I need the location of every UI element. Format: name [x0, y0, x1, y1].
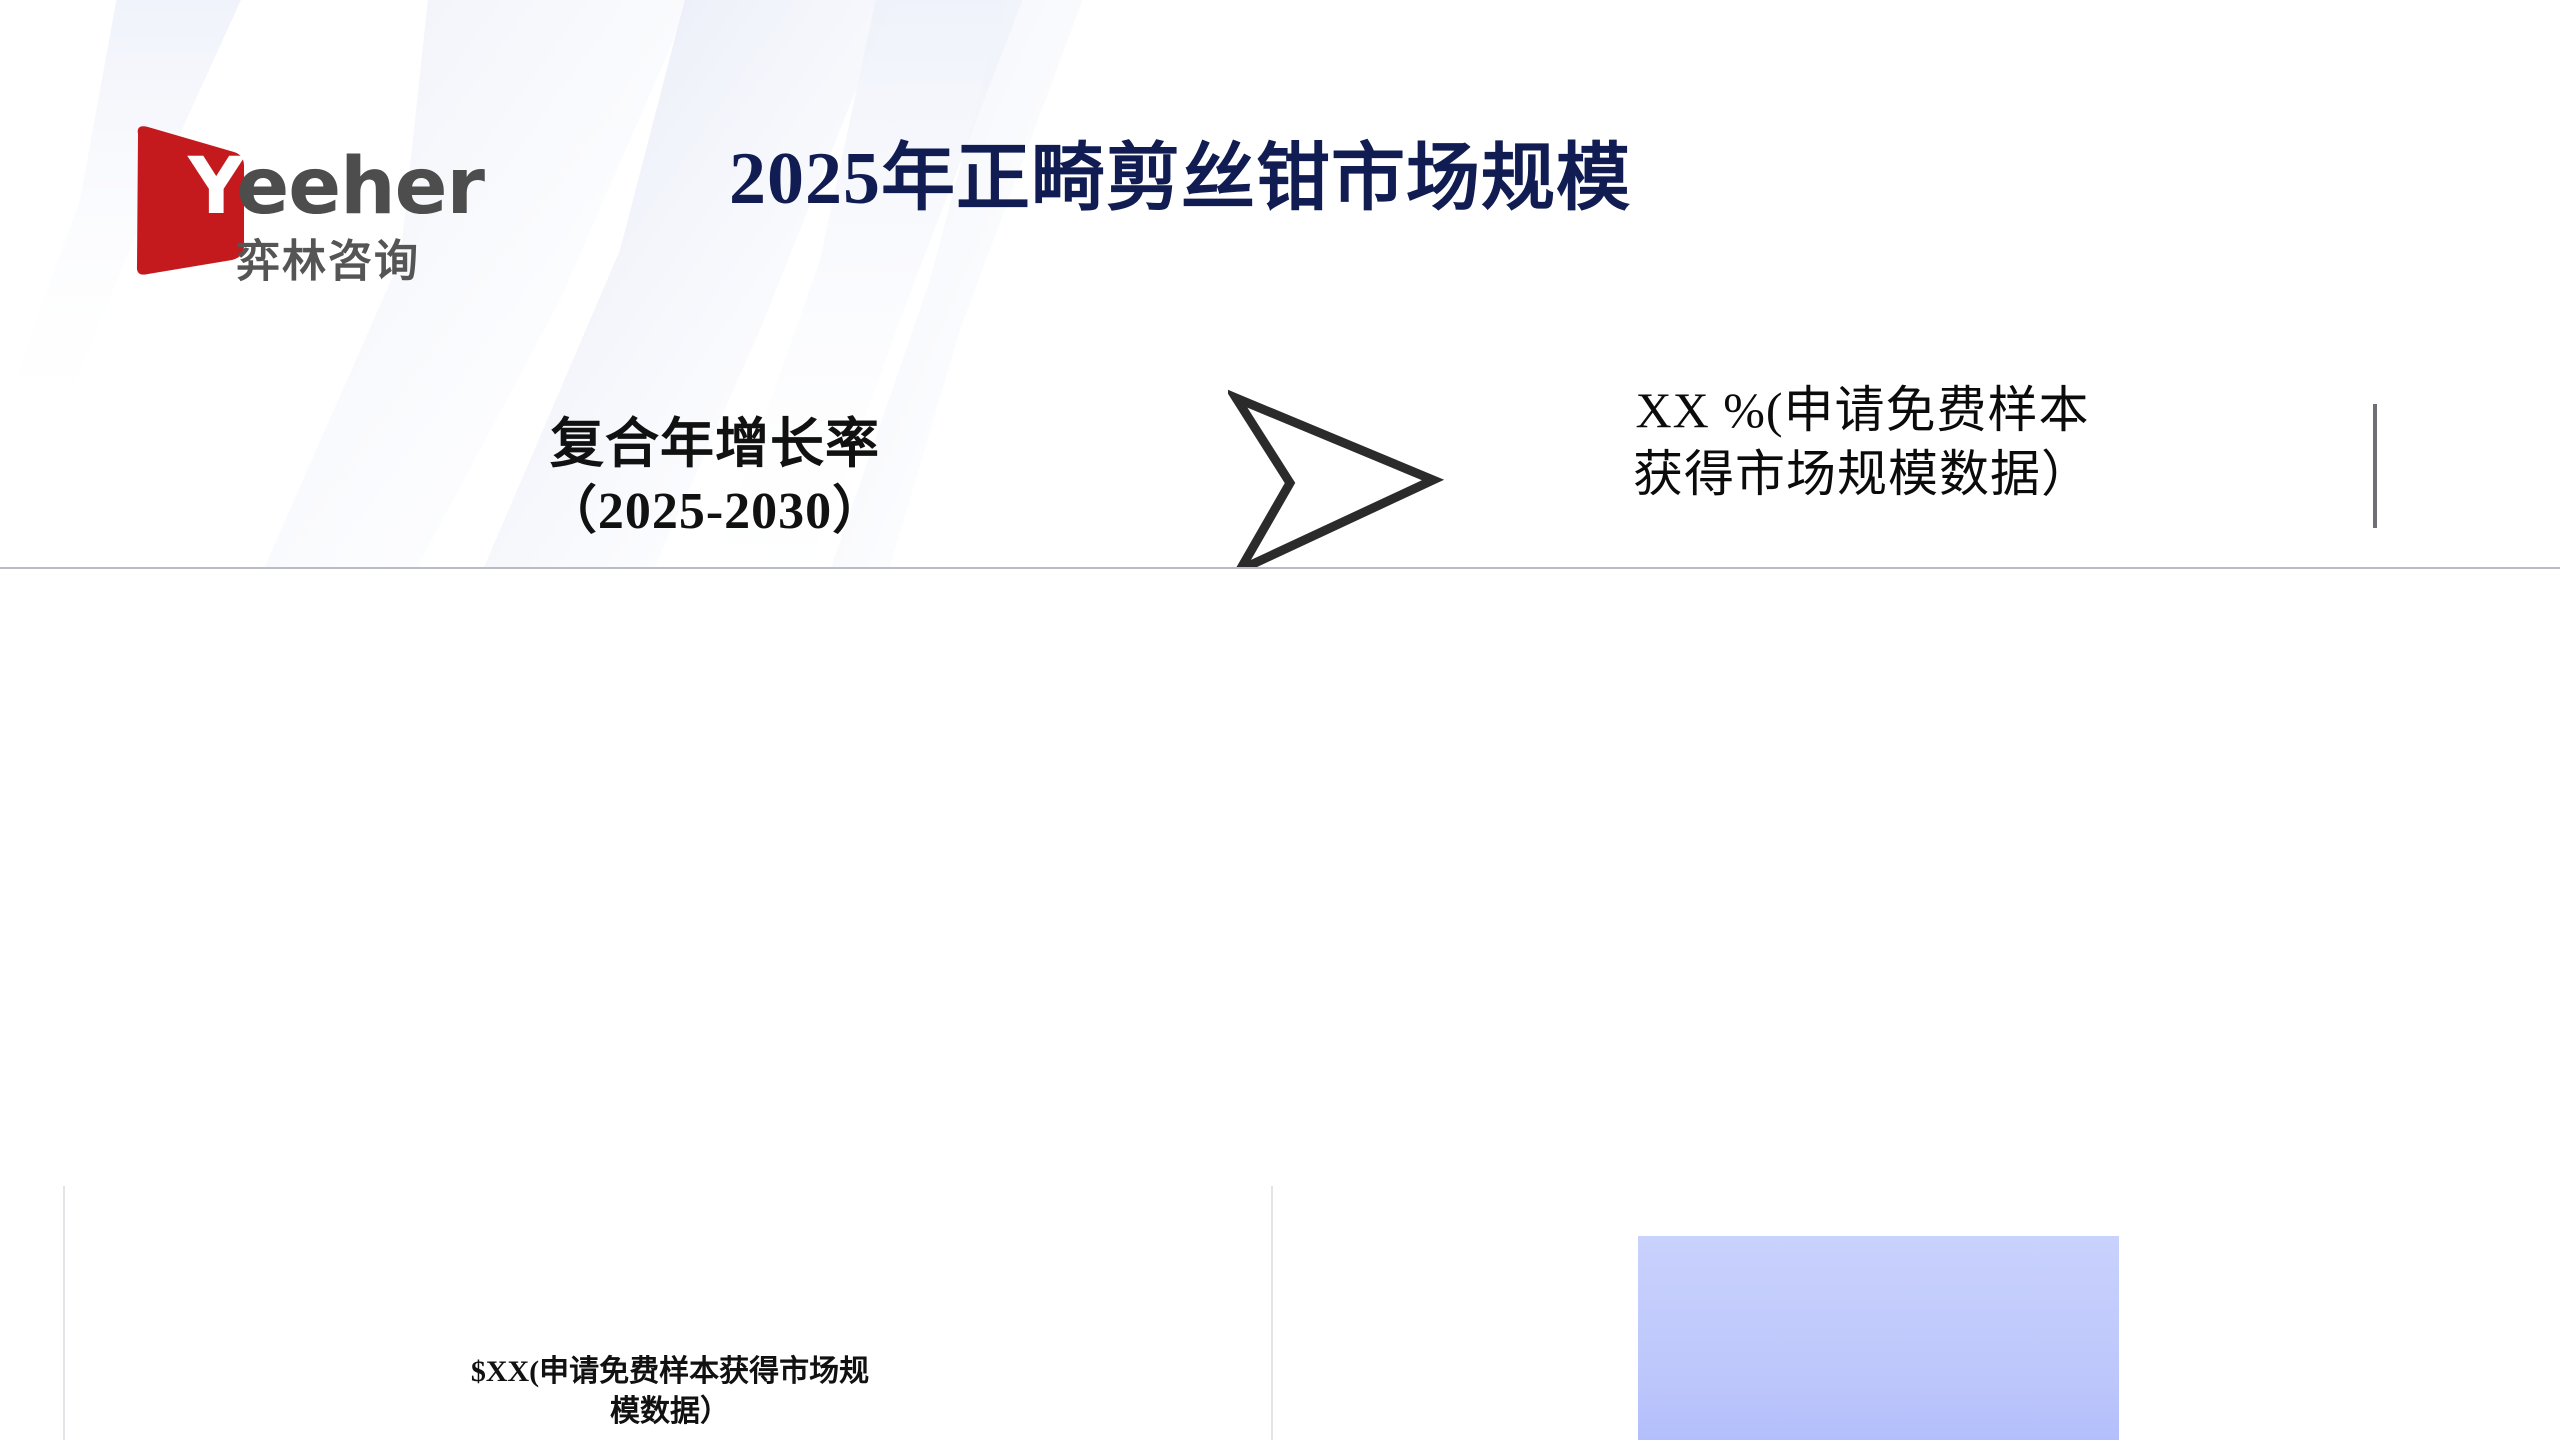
logo-wordmark-rest: eeher — [236, 142, 484, 232]
chart-panel-mid-border — [1271, 1186, 1273, 1440]
market-size-value-callout: XX %(申请免费样本 获得市场规模数据） — [1575, 378, 2150, 506]
slide-canvas: Yeeher 弈林咨询 2025年正畸剪丝钳市场规模 复合年增长率 （2025-… — [0, 0, 2560, 1440]
bar-label-2025-line1: $XX(申请免费样本获得市场规 — [420, 1352, 920, 1392]
right-divider-tick — [2373, 404, 2377, 528]
value-line-1: XX %(申请免费样本 — [1575, 378, 2150, 442]
chart-panel-left-border — [63, 1186, 65, 1440]
bar-label-2025: $XX(申请免费样本获得市场规 模数据） — [420, 1352, 920, 1431]
page-title: 2025年正畸剪丝钳市场规模 — [560, 140, 1800, 220]
cagr-callout: 复合年增长率 （2025-2030） — [430, 410, 1000, 546]
logo-subtitle-cn: 弈林咨询 — [236, 240, 420, 284]
logo-initial: Y — [188, 142, 236, 232]
cagr-period: （2025-2030） — [430, 479, 1000, 546]
bar-label-2025-line2: 模数据） — [420, 1392, 920, 1432]
cagr-title: 复合年增长率 — [430, 410, 1000, 479]
value-line-2: 获得市场规模数据） — [1575, 442, 2150, 506]
bar-chart: $XX(申请免费样本获得市场规 模数据） 2025 2030 — [0, 569, 2560, 1440]
bar-2030[interactable] — [1638, 1236, 2119, 1440]
right-arrow-icon — [1228, 388, 1448, 578]
logo-wordmark: Yeeher — [188, 148, 484, 226]
brand-logo: Yeeher 弈林咨询 — [128, 112, 468, 302]
